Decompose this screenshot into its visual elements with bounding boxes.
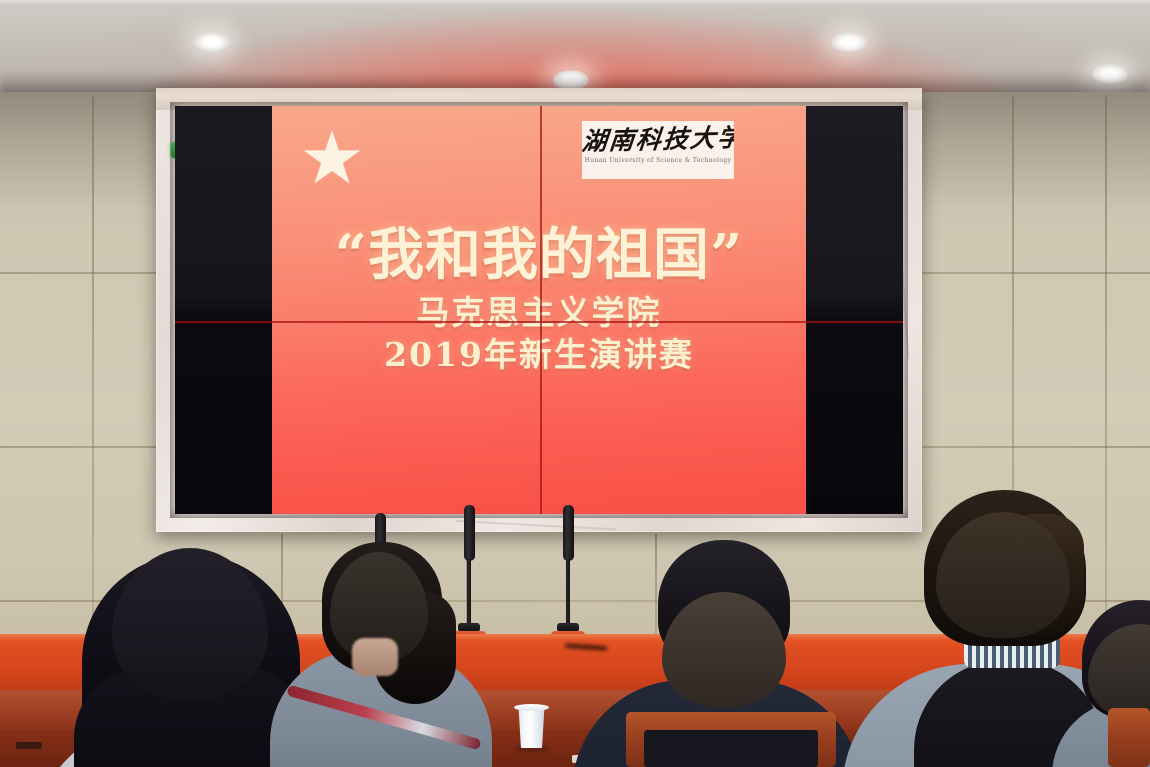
video-wall-screen[interactable]: 湖南科技大学 Hunan University of Science & Tec…	[175, 106, 903, 514]
marble-vein	[456, 520, 616, 530]
slide-text-block: “我和我的祖国” 马克思主义学院 2019年新生演讲赛	[272, 106, 806, 514]
slide-subtitle-line1: 马克思主义学院	[417, 290, 662, 336]
slide-title: “我和我的祖国”	[335, 224, 743, 286]
wall-seam-v	[92, 96, 94, 656]
microphone-head	[563, 505, 574, 561]
presentation-slide: 湖南科技大学 Hunan University of Science & Tec…	[272, 106, 806, 514]
ceiling-edge-line	[0, 0, 1150, 5]
microphone-neck	[467, 559, 471, 631]
microphone-head	[464, 505, 475, 561]
wall-seam-v	[1105, 96, 1107, 656]
downlight-3	[831, 32, 867, 52]
video-wall-seam-horizontal	[175, 321, 903, 323]
chair-back-right	[1108, 708, 1150, 767]
lecture-hall-photo: 湖南科技大学 Hunan University of Science & Tec…	[0, 0, 1150, 767]
paper-cup	[516, 706, 547, 748]
microphone-neck	[566, 559, 570, 631]
chair-back-cushion	[644, 730, 818, 767]
paper-cup-rim	[514, 704, 549, 711]
slide-subtitle-line2: 2019年新生演讲赛	[384, 332, 694, 378]
desk-small-object	[16, 742, 42, 749]
video-wall-seam-vertical	[540, 106, 542, 514]
downlight-1	[194, 32, 230, 52]
letterbox-bar-left	[175, 106, 272, 514]
letterbox-bar-right	[806, 106, 903, 514]
person-neck	[352, 638, 398, 676]
